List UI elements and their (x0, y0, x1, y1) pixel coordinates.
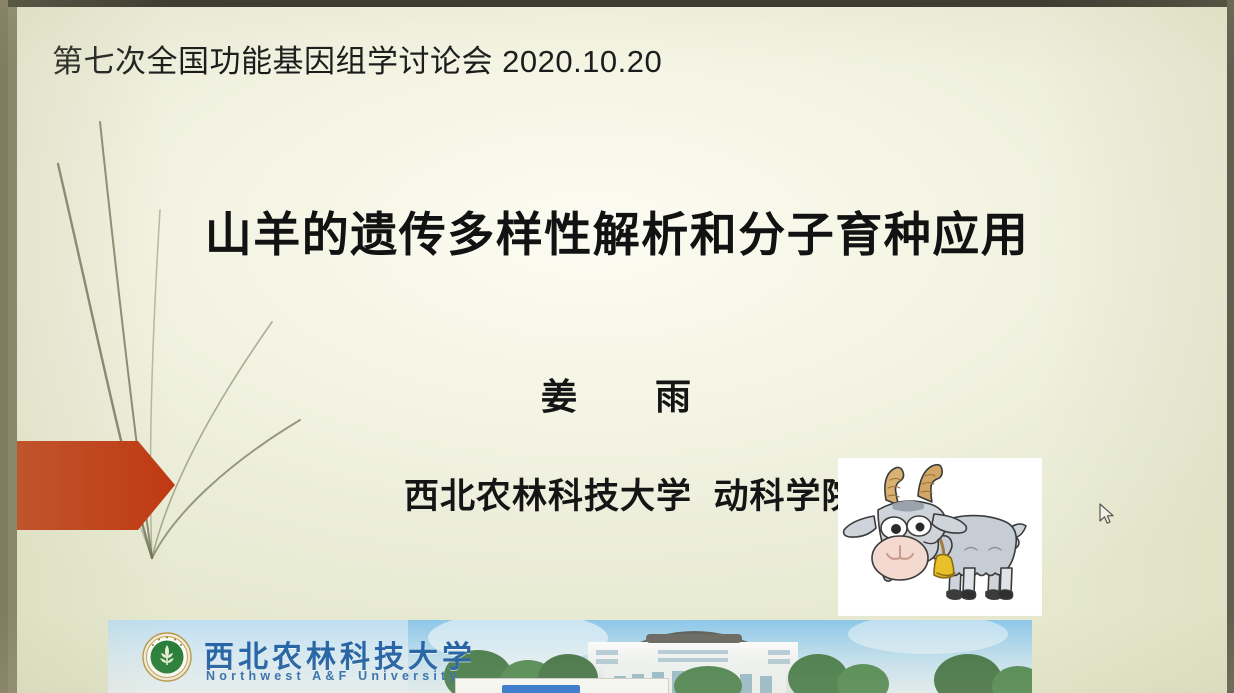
university-seal-icon (142, 632, 192, 682)
page-title: 山羊的遗传多样性解析和分子育种应用 (0, 196, 1234, 265)
speaker-name: 姜 雨 (0, 368, 1234, 420)
cartoon-goat-illustration (838, 458, 1042, 616)
affiliation-text: 西北农林科技大学 动科学院 (404, 468, 857, 519)
frame-edge-right (1227, 0, 1234, 693)
university-name-english: Northwest A&F University (206, 669, 461, 683)
slide-background (0, 0, 1234, 693)
goat-image-card (838, 458, 1042, 616)
video-slide-frame: 第七次全国功能基因组学讨论会 2020.10.20 山羊的遗传多样性解析和分子育… (0, 0, 1234, 693)
orange-arrow-banner (0, 441, 175, 530)
bottom-overlay-button[interactable] (502, 685, 580, 693)
frame-edge-top (0, 0, 1234, 7)
conference-header-text: 第七次全国功能基因组学讨论会 2020.10.20 (52, 44, 662, 80)
frame-edge-left-inner (8, 7, 17, 693)
frame-edge-left (0, 0, 8, 693)
